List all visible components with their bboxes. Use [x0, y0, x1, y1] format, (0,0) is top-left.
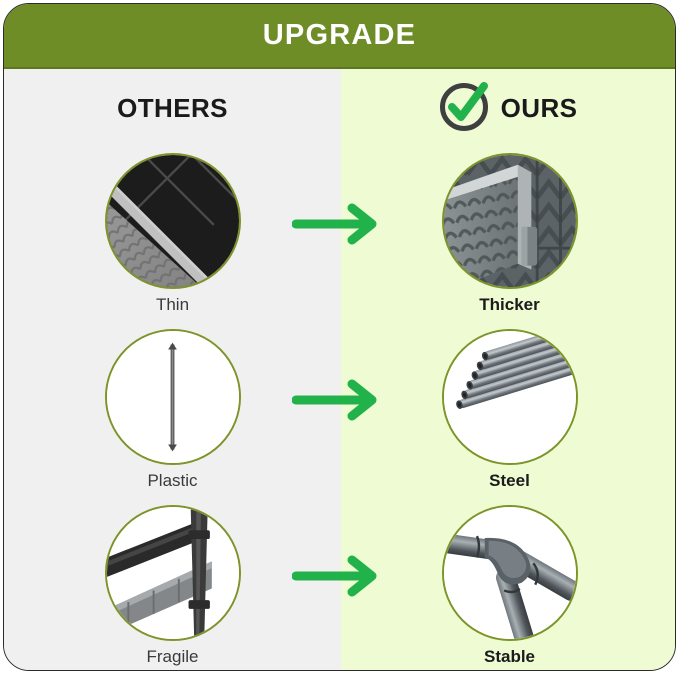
plastic-rod-photo — [107, 331, 239, 463]
cell-others: Plastic — [4, 323, 341, 499]
thicker-panel-photo — [444, 155, 576, 287]
check-circle-icon — [439, 80, 491, 132]
label-others: Thin — [4, 295, 341, 315]
cell-others: Fragile — [4, 499, 341, 671]
thin-panel-photo — [107, 155, 239, 287]
cell-ours: Steel — [341, 323, 676, 499]
circle-others — [105, 505, 241, 641]
arrow-right-icon — [292, 554, 388, 598]
circle-others — [105, 329, 241, 465]
cell-ours: Thicker — [341, 147, 676, 323]
heading-others: OTHERS — [4, 69, 341, 147]
column-headings: OTHERS OURS — [4, 69, 675, 147]
cell-ours: Stable — [341, 499, 676, 671]
card-body: OTHERS OURS — [4, 69, 675, 670]
stable-joint-photo — [444, 507, 576, 639]
comparison-row: Thin — [4, 147, 675, 323]
label-others: Fragile — [4, 647, 341, 667]
steel-tubes-photo — [444, 331, 576, 463]
page-title: UPGRADE — [263, 19, 416, 52]
circle-others — [105, 153, 241, 289]
label-others: Plastic — [4, 471, 341, 491]
heading-others-label: OTHERS — [117, 93, 228, 124]
comparison-row: Fragile — [4, 499, 675, 671]
heading-ours-label: OURS — [501, 93, 578, 124]
arrow-right-icon — [292, 378, 388, 422]
arrow-right-icon — [292, 202, 388, 246]
fragile-joint-photo — [107, 507, 239, 639]
circle-ours — [442, 505, 578, 641]
heading-ours: OURS — [341, 69, 675, 147]
label-ours: Thicker — [341, 295, 676, 315]
card-header: UPGRADE — [4, 4, 675, 67]
label-ours: Steel — [341, 471, 676, 491]
circle-ours — [442, 153, 578, 289]
comparison-card: UPGRADE OTHERS OURS — [3, 3, 676, 671]
circle-ours — [442, 329, 578, 465]
cell-others: Thin — [4, 147, 341, 323]
comparison-row: Plastic — [4, 323, 675, 499]
label-ours: Stable — [341, 647, 676, 667]
